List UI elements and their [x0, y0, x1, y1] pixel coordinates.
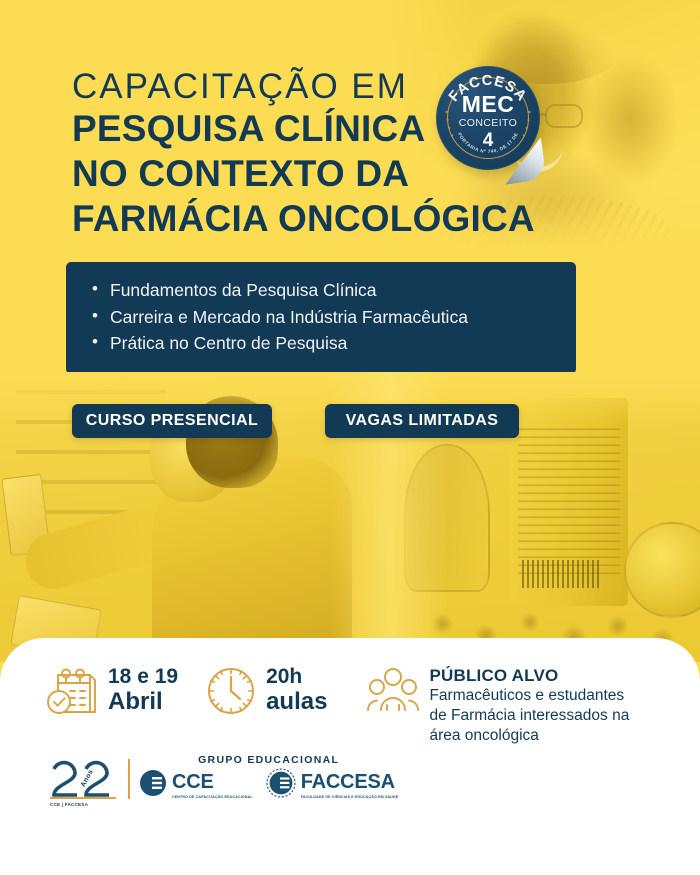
people-group-icon [367, 666, 419, 716]
headline-line-4: FARMÁCIA ONCOLÓGICA [72, 196, 542, 241]
calendar-check-icon [46, 666, 98, 716]
audience-description: Farmacêuticos e estudantes de Farmácia i… [429, 686, 639, 746]
seal-mec-label: MEC [462, 93, 515, 116]
brand-faccesa: FACCESA FACULDADE DE CIÊNCIAS E EDUCAÇÃO… [266, 768, 399, 803]
hours-amount: 20h [266, 665, 302, 688]
date-month: Abril [108, 688, 163, 715]
clock-icon [206, 666, 256, 716]
cce-mark-icon [139, 769, 167, 802]
hours-label: aulas [266, 688, 327, 715]
grupo-educacional-block: GRUPO EDUCACIONAL CCE CE [139, 752, 398, 803]
logo-22-caption: CCE | FACCESA [50, 802, 88, 807]
date-text: 18 e 19 Abril [108, 666, 178, 716]
list-item: Carreira e Mercado na Indústria Farmacêu… [92, 304, 550, 331]
info-item-hours: 20h aulas [206, 666, 327, 716]
photo-supplement-bottle [510, 398, 628, 606]
logo-22-underline [50, 797, 116, 799]
brand-cce: CCE CENTRO DE CAPACITAÇÃO EDUCACIONAL [139, 769, 253, 802]
list-item: Prática no Centro de Pesquisa [92, 330, 550, 357]
hours-text: 20h aulas [266, 666, 327, 716]
faccesa-mark-icon [266, 768, 296, 803]
audience-title: PÚBLICO ALVO [429, 666, 558, 685]
info-row: 18 e 19 Abril [46, 666, 670, 746]
seal-conceito-label: CONCEITO [459, 118, 517, 129]
seal-score-value: 4 [483, 131, 494, 150]
faccesa-name: FACCESA [301, 771, 395, 793]
logo-22-anos: Anos CCE | FACCESA [48, 755, 122, 803]
cce-subtitle: CENTRO DE CAPACITAÇÃO EDUCACIONAL [172, 795, 253, 799]
faccesa-subtitle: FACULDADE DE CIÊNCIAS E EDUCAÇÃO EM SAÚD… [301, 795, 399, 799]
grupo-educacional-title: GRUPO EDUCACIONAL [139, 754, 398, 766]
badge-vagas-limitadas[interactable]: VAGAS LIMITADAS [325, 404, 519, 438]
flyer-poster: CAPACITAÇÃO EM PESQUISA CLÍNICA NO CONTE… [0, 0, 700, 875]
footer-logos: Anos CCE | FACCESA GRUPO EDUCACIONAL [48, 752, 398, 803]
topics-list: Fundamentos da Pesquisa Clínica Carreira… [92, 277, 550, 357]
date-days: 18 e 19 [108, 665, 178, 688]
seal-center-content: MEC CONCEITO 4 [436, 66, 540, 170]
brand-row: CCE CENTRO DE CAPACITAÇÃO EDUCACIONAL [139, 768, 398, 803]
faccesa-text: FACCESA FACULDADE DE CIÊNCIAS E EDUCAÇÃO… [301, 772, 399, 799]
cce-text: CCE CENTRO DE CAPACITAÇÃO EDUCACIONAL [172, 772, 253, 799]
mec-accreditation-seal: FACCESA PORTARIA Nº 740, DE 17 DE MEC CO… [434, 64, 546, 186]
logo-divider [128, 759, 130, 799]
list-item: Fundamentos da Pesquisa Clínica [92, 277, 550, 304]
topics-panel: Fundamentos da Pesquisa Clínica Carreira… [66, 262, 576, 374]
audience-text: PÚBLICO ALVO Farmacêuticos e estudantes … [429, 666, 639, 746]
info-item-audience: PÚBLICO ALVO Farmacêuticos e estudantes … [367, 666, 639, 746]
info-item-date: 18 e 19 Abril [46, 666, 178, 716]
badge-curso-presencial[interactable]: CURSO PRESENCIAL [72, 404, 272, 438]
cce-name: CCE [172, 771, 214, 793]
photo-bottle-label [518, 424, 620, 574]
